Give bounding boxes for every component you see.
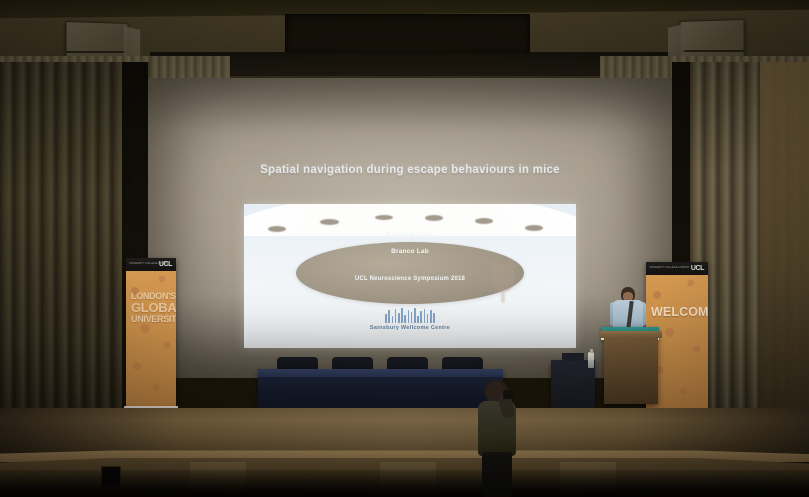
table-cloth-top: [258, 369, 503, 377]
camera-phone: [503, 390, 514, 399]
arena-shelter-hole: [320, 219, 339, 225]
slide-title: Spatial navigation during escape behavio…: [148, 164, 672, 176]
podium: [604, 336, 658, 404]
banner-text-left: LONDON'S GLOBAL UNIVERSITY: [131, 292, 171, 325]
slide-event-name: UCL Neuroscience Symposium 2018: [244, 276, 576, 282]
arena-shelter-hole: [475, 218, 493, 224]
lecture-hall-photo: Spatial navigation during escape behavio…: [0, 0, 809, 497]
side-table-riser: [562, 353, 584, 361]
photographer-legs: [482, 452, 512, 497]
arena-shelter-hole: [375, 215, 393, 220]
banner-header-right: UNIVERSITY COLLEGE LONDON UCL: [646, 262, 708, 275]
banner-fine-print-right: UNIVERSITY COLLEGE LONDON: [649, 266, 689, 269]
stage-floor: [0, 408, 809, 456]
ucl-logo-right: UCL: [691, 265, 704, 272]
banner-header-left: UNIVERSITY COLLEGE LONDON UCL: [126, 258, 176, 271]
side-wall-right: [760, 62, 809, 434]
swc-logo-caption: Sainsbury Wellcome Centre: [244, 325, 576, 331]
podium-top: [600, 331, 662, 338]
slide-presenter-name: Ruben do Vale: [244, 232, 576, 239]
banner-line-2: GLOBAL: [131, 301, 171, 315]
house-floor-shadow: [0, 470, 809, 497]
swc-logo: Sainsbury Wellcome Centre: [244, 308, 576, 331]
swc-barcode-mark: [244, 308, 576, 323]
roll-up-banner-left: UNIVERSITY COLLEGE LONDON UCL LONDON'S G…: [126, 258, 176, 408]
audience-member-photographing: [472, 382, 522, 497]
banner-fine-print-left: UNIVERSITY COLLEGE LONDON: [129, 262, 169, 265]
projection-booth-opening: [285, 14, 530, 54]
slide-lab-name: Branco Lab: [244, 248, 576, 255]
banner-line-3: UNIVERSITY: [131, 314, 176, 324]
water-bottle: [588, 352, 594, 368]
bottle-cap: [590, 349, 593, 353]
arena-shelter-hole: [525, 225, 543, 231]
slide-credits: Ruben do Vale Branco Lab UCL Neuroscienc…: [244, 232, 576, 282]
arena-shelter-hole: [425, 215, 443, 221]
banner-welcome-text: WELCOME: [651, 306, 703, 319]
